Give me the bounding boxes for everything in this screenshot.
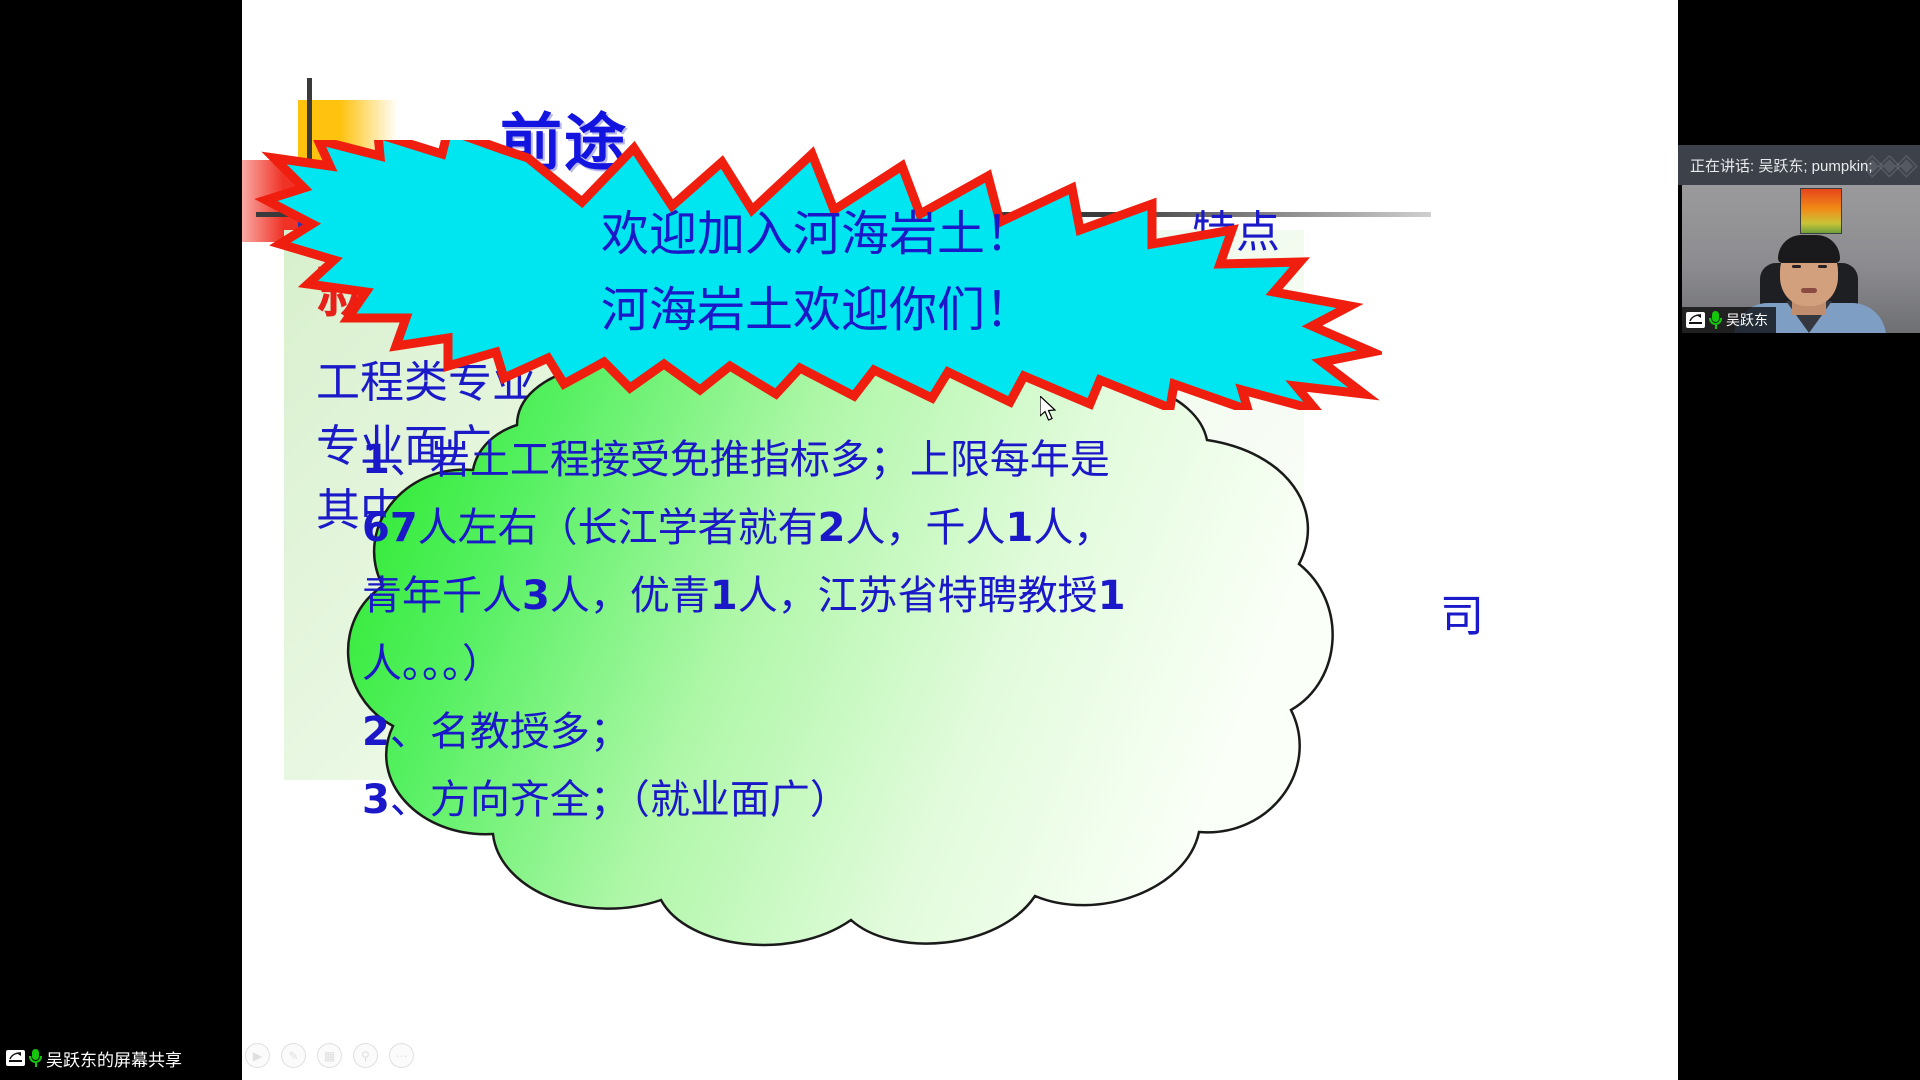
cloud-line-3: 青年千人3人，优青1人，江苏省特聘教授1 bbox=[362, 562, 1142, 630]
microphone-icon bbox=[1709, 311, 1722, 329]
next-slide-icon[interactable]: ▶ bbox=[245, 1043, 270, 1068]
share-arrow-glyph bbox=[1689, 314, 1702, 322]
cloud-line-4: 人。。。） bbox=[362, 630, 1142, 698]
cloud-line-5: 2、名教授多； bbox=[362, 698, 1142, 766]
burst-line-2: 河海岩土欢迎你们！ bbox=[507, 272, 1127, 348]
green-cloud-callout[interactable]: 1、岩土工程接受免推指标多；上限每年是 67人左右（长江学者就有2人，千人1人，… bbox=[242, 330, 1437, 1080]
cloud-line-2: 67人左右（长江学者就有2人，千人1人， bbox=[362, 494, 1142, 562]
left-letterbox bbox=[0, 0, 242, 1036]
taskbar-screen-share-icon bbox=[6, 1050, 25, 1066]
burst-text-block: 欢迎加入河海岩土！ 河海岩土欢迎你们！ bbox=[507, 196, 1127, 348]
cloud-text-block: 1、岩土工程接受免推指标多；上限每年是 67人左右（长江学者就有2人，千人1人，… bbox=[362, 426, 1142, 834]
taskbar-share-arrow-glyph bbox=[9, 1052, 22, 1060]
burst-line-1: 欢迎加入河海岩土！ bbox=[507, 196, 1127, 272]
participant-name-tag: 吴跃东 bbox=[1682, 307, 1776, 333]
person-eye-right bbox=[1818, 265, 1827, 268]
speaking-banner: 正在讲话: 吴跃东; pumpkin; ◈◈◈ bbox=[1678, 145, 1920, 185]
zoom-in-icon[interactable]: ⚲ bbox=[353, 1043, 378, 1068]
wall-painting bbox=[1800, 188, 1842, 234]
person-hair bbox=[1778, 235, 1840, 263]
pen-tool-icon[interactable]: ✎ bbox=[281, 1043, 306, 1068]
video-tile[interactable]: 吴跃东 bbox=[1682, 185, 1920, 333]
cyan-starburst-callout[interactable]: 欢迎加入河海岩土！ 河海岩土欢迎你们！ bbox=[252, 140, 1382, 410]
taskbar-microphone-icon bbox=[29, 1049, 42, 1067]
screen-root: 前途 就业前景 工程类专业 专业面广 其中 特点 司 bbox=[0, 0, 1920, 1080]
slide-bg-right-fragment-2: 司 bbox=[1440, 580, 1484, 644]
all-slides-icon[interactable]: ▦ bbox=[317, 1043, 342, 1068]
cloud-line-6: 3、方向齐全；（就业面广） bbox=[362, 766, 1142, 834]
mouse-cursor-icon bbox=[1040, 396, 1060, 424]
person-mouth bbox=[1801, 288, 1817, 293]
cloud-line-1: 1、岩土工程接受免推指标多；上限每年是 bbox=[362, 426, 1142, 494]
speaking-banner-text: 正在讲话: 吴跃东; pumpkin; bbox=[1690, 155, 1873, 176]
presentation-toolbar[interactable]: ◀ ▶ ✎ ▦ ⚲ ⋯ bbox=[242, 1043, 414, 1068]
taskbar-label: 吴跃东的屏幕共享 bbox=[46, 1046, 182, 1071]
person-eye-left bbox=[1792, 265, 1801, 268]
participant-name-label: 吴跃东 bbox=[1726, 310, 1768, 330]
shared-screen-slide[interactable]: 前途 就业前景 工程类专业 专业面广 其中 特点 司 bbox=[242, 0, 1678, 1080]
share-taskbar[interactable]: 吴跃东的屏幕共享 bbox=[0, 1036, 242, 1080]
more-options-icon[interactable]: ⋯ bbox=[389, 1043, 414, 1068]
participant-video-panel[interactable]: 正在讲话: 吴跃东; pumpkin; ◈◈◈ bbox=[1678, 145, 1920, 335]
screen-share-icon bbox=[1686, 312, 1705, 328]
